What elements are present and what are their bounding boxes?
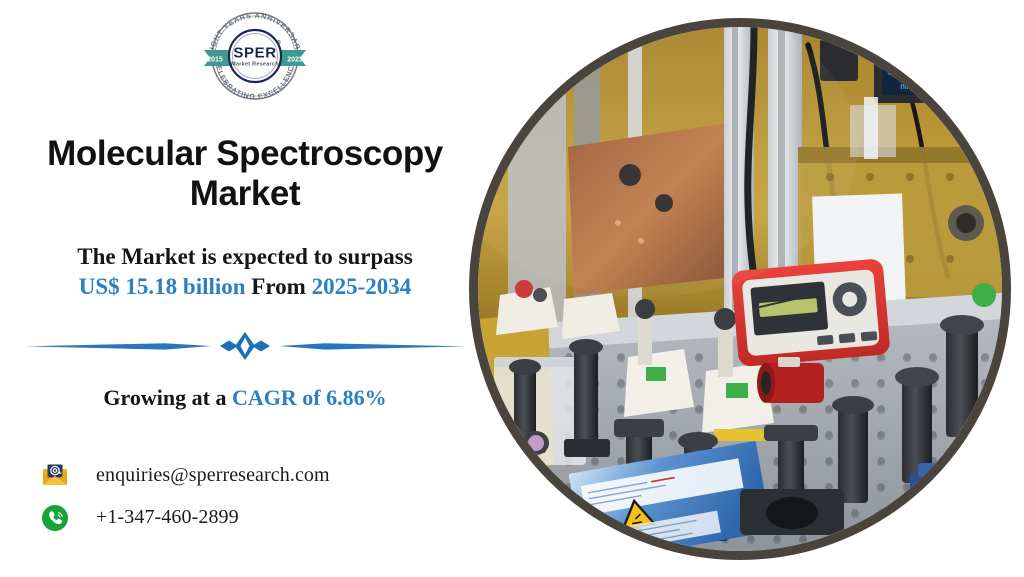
page-title-line1: Molecular Spectroscopy	[18, 134, 472, 174]
svg-text:nm: nm	[900, 82, 910, 91]
cagr-value: CAGR of 6.86%	[232, 385, 387, 410]
contact-row-phone[interactable]: +1-347-460-2899	[40, 497, 490, 539]
logo-year-left: 2015	[207, 57, 223, 64]
contact-row-email[interactable]: enquiries@sperresearch.com	[40, 455, 490, 497]
cagr-statement: Growing at a CAGR of 6.86%	[0, 385, 490, 411]
hero-photo-circle: 628.0 nm	[469, 18, 1011, 560]
page-title-line2: Market	[18, 174, 472, 214]
forecast-value: US$ 15.18 billion	[79, 274, 246, 299]
divider-left-line	[25, 343, 211, 349]
phone-whatsapp-icon	[40, 503, 70, 533]
forecast-line-1: The Market is expected to surpass	[0, 242, 490, 272]
hero-photo-inner: 628.0 nm	[478, 27, 1002, 551]
ornamental-divider	[15, 329, 475, 363]
divider-center-diamond	[235, 332, 255, 360]
logo-brand-subtext: Market Research	[231, 62, 279, 68]
cagr-prefix: Growing at a	[103, 385, 226, 410]
logo-registered-icon: ®	[277, 39, 281, 46]
svg-text:628.0: 628.0	[887, 64, 923, 78]
contact-phone-text: +1-347-460-2899	[96, 506, 239, 529]
sper-logo: EIGHT YEARS ANNIVERSARY CELEBRATING EXCE…	[196, 6, 314, 104]
sper-logo-svg: EIGHT YEARS ANNIVERSARY CELEBRATING EXCE…	[196, 6, 314, 104]
divider-right-line	[279, 343, 465, 349]
forecast-line-2: US$ 15.18 billion From 2025-2034	[0, 272, 490, 302]
page-title: Molecular Spectroscopy Market	[18, 134, 472, 214]
optical-spectroscopy-lab-bench-photo: 628.0 nm	[478, 27, 1002, 551]
contact-block: enquiries@sperresearch.com +1-347-460-28…	[0, 455, 490, 539]
envelope-at-icon	[40, 461, 70, 491]
contact-email-text: enquiries@sperresearch.com	[96, 464, 330, 487]
logo-brand-text: SPER	[233, 45, 276, 62]
market-forecast-statement: The Market is expected to surpass US$ 15…	[0, 242, 490, 303]
forecast-connector: From	[251, 274, 306, 299]
forecast-period: 2025-2034	[312, 274, 412, 299]
left-content-column: Molecular Spectroscopy Market The Market…	[0, 110, 490, 550]
poster-canvas: EIGHT YEARS ANNIVERSARY CELEBRATING EXCE…	[0, 0, 1024, 577]
logo-year-right: 2023	[287, 57, 303, 64]
